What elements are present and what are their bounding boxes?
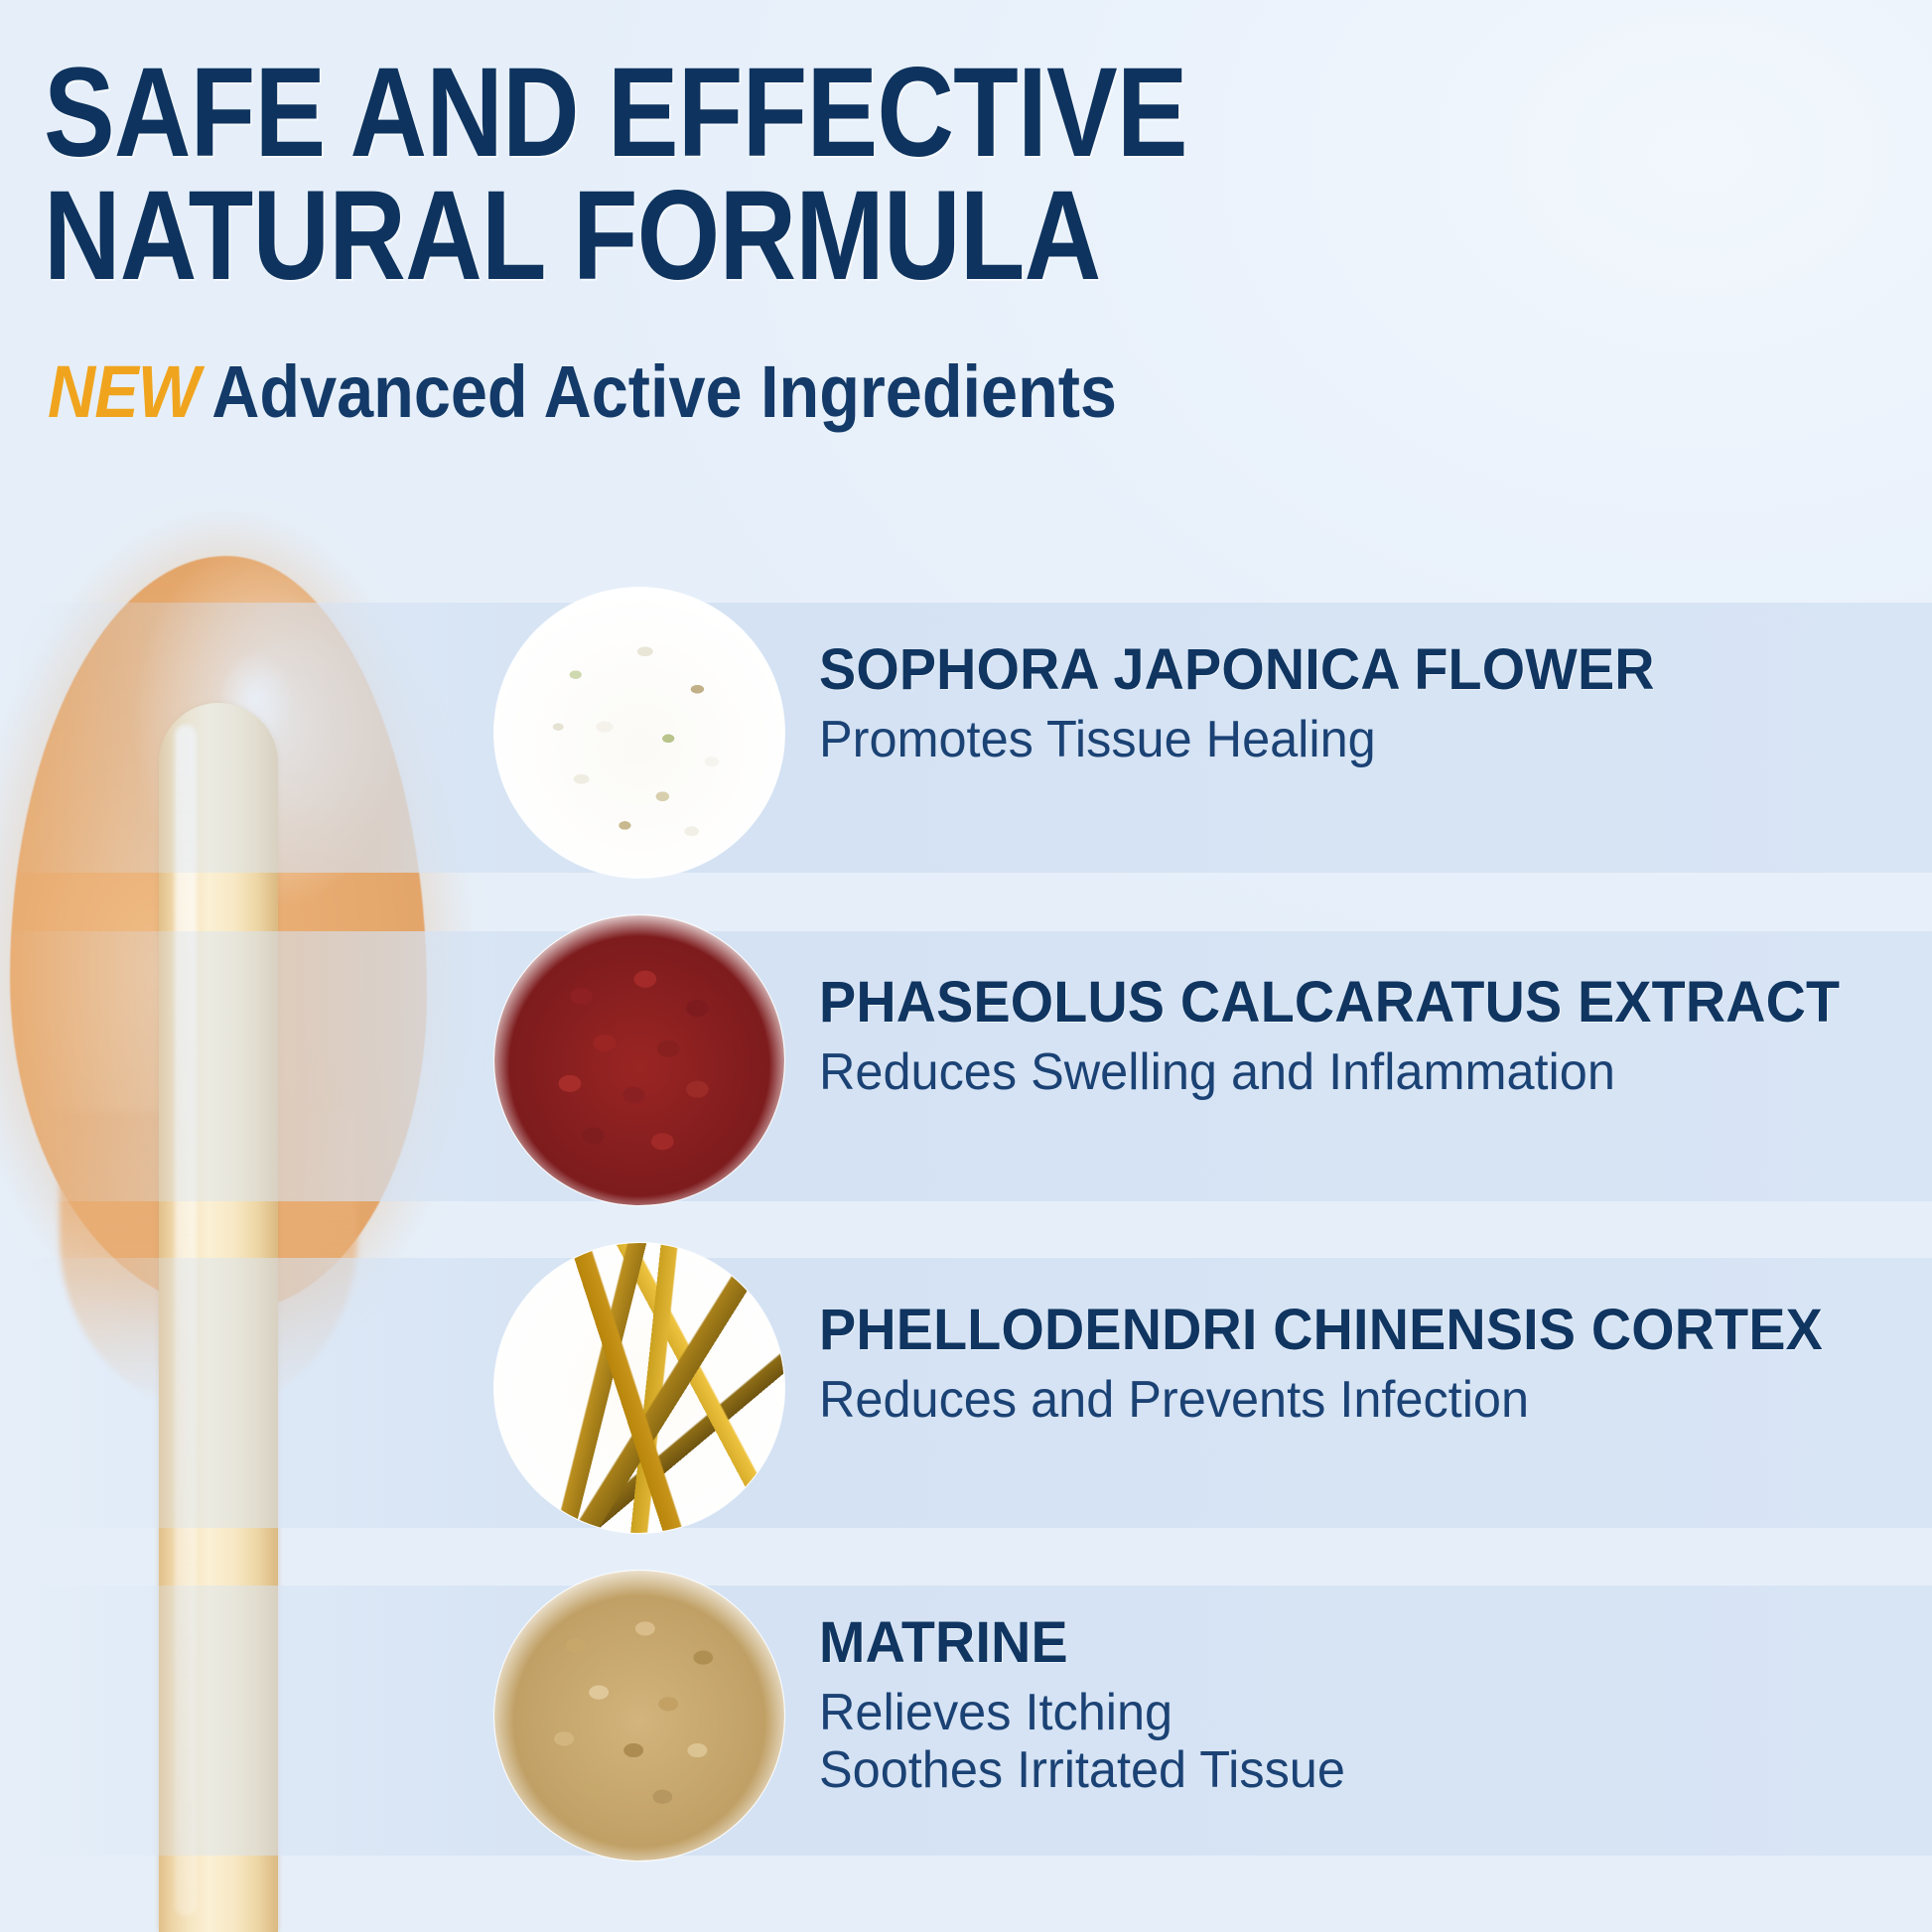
headline-line-2: NATURAL FORMULA: [44, 175, 1253, 298]
ingredient-benefit-line-2: Soothes Irritated Tissue: [819, 1741, 1888, 1799]
page-title: SAFE AND EFFECTIVE NATURAL FORMULA: [44, 52, 1483, 298]
ingredient-name: SOPHORA JAPONICA FLOWER: [819, 640, 1877, 701]
ingredient-name: MATRINE: [819, 1613, 1877, 1674]
ingredient-text-matrine: MATRINE Relieves Itching Soothes Irritat…: [819, 1613, 1921, 1799]
ingredient-benefit: Promotes Tissue Healing: [819, 711, 1888, 768]
ingredient-benefit-line-1: Relieves Itching: [819, 1684, 1173, 1741]
ingredient-thumbnail-sophora: [494, 588, 784, 878]
ingredient-benefit: Reduces and Prevents Infection: [819, 1371, 1888, 1429]
ingredient-text-phaseolus: PHASEOLUS CALCARATUS EXTRACT Reduces Swe…: [819, 973, 1921, 1101]
ingredient-benefit: Reduces Swelling and Inflammation: [819, 1043, 1888, 1101]
ingredient-thumbnail-phaseolus: [494, 915, 784, 1205]
ingredient-thumbnail-phellodendri: [494, 1243, 784, 1533]
subheadline-text: Advanced Active Ingredients: [211, 350, 1117, 433]
headline-line-1: SAFE AND EFFECTIVE: [44, 52, 1253, 175]
ingredient-text-phellodendri: PHELLODENDRI CHINENSIS CORTEX Reduces an…: [819, 1301, 1921, 1429]
phellodendri-bark-image: [494, 1243, 784, 1533]
subheadline: NEWAdvanced Active Ingredients: [48, 349, 1117, 434]
ingredient-thumbnail-matrine: [494, 1571, 784, 1861]
new-badge: NEW: [48, 350, 200, 433]
phaseolus-bean-image: [494, 915, 784, 1205]
ingredient-text-sophora: SOPHORA JAPONICA FLOWER Promotes Tissue …: [819, 640, 1921, 768]
ingredient-benefit: Relieves Itching Soothes Irritated Tissu…: [819, 1684, 1888, 1799]
matrine-root-image: [494, 1571, 784, 1861]
ingredient-name: PHASEOLUS CALCARATUS EXTRACT: [819, 973, 1877, 1034]
infographic-root: SAFE AND EFFECTIVE NATURAL FORMULA NEWAd…: [0, 0, 1932, 1932]
ingredient-name: PHELLODENDRI CHINENSIS CORTEX: [819, 1301, 1877, 1361]
sophora-flower-image: [494, 588, 784, 878]
